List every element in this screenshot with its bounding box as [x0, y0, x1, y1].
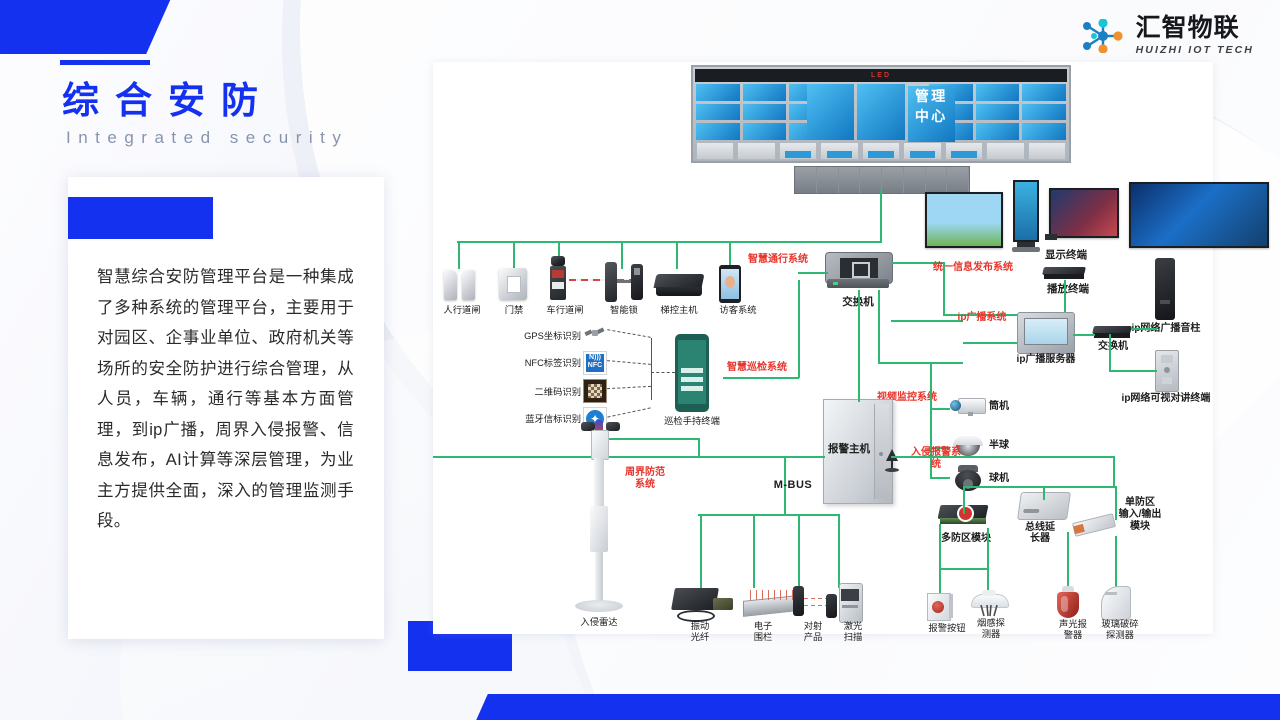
link-mbus-3 [798, 514, 800, 564]
system-label-inspection: 智慧巡检系统 [717, 362, 797, 374]
brand-name-cn: 汇智物联 [1136, 16, 1254, 41]
label-elevator-controller: 梯控主机 [651, 305, 707, 316]
device-beam-detector [793, 586, 841, 620]
device-inspection-terminal [675, 334, 709, 412]
device-sound-light-alarm [1056, 586, 1080, 620]
device-tv-monitor [1049, 188, 1119, 238]
link-per-dev-3 [798, 564, 800, 588]
link-mz-bar [939, 568, 987, 570]
label-broadcast-switch: 交换机 [1087, 342, 1139, 353]
card-accent-tag [68, 197, 213, 239]
satellite-icon [583, 324, 607, 342]
link-alarm-left [433, 456, 825, 458]
label-pedestrian-gate: 人行道闸 [434, 305, 490, 316]
device-large-led-wall [1129, 182, 1269, 248]
label-laser-scanner: 激光 扫描 [831, 621, 875, 642]
link-modules-bar [1043, 486, 1115, 488]
link-switch-left [798, 272, 828, 274]
label-ptz-camera: 球机 [989, 474, 1023, 485]
link-per-dev-1 [700, 564, 702, 588]
label-bluetooth-method: 蓝牙信标识别 [493, 414, 581, 425]
link-alarm-right [891, 456, 1113, 458]
link-mz-down2 [987, 528, 989, 568]
label-vehicle-barrier: 车行道闸 [537, 305, 593, 316]
link-insp-1 [607, 329, 651, 338]
device-smart-lock [603, 262, 645, 304]
slide-canvas: 汇智物联 HUIZHI IOT TECH 综合安防 Integrated sec… [0, 0, 1280, 720]
label-intrusion-radar: 入侵雷达 [563, 617, 635, 628]
link-insp-3 [607, 386, 651, 389]
link-alarm-right-v [1113, 456, 1115, 486]
device-door-access [499, 268, 527, 300]
system-label-publish: 统一信息发布系统 [918, 262, 1028, 274]
link-top-bus [457, 241, 882, 243]
device-glass-break-detector [1101, 586, 1131, 620]
link-mbus-1 [700, 514, 702, 564]
device-bullet-camera [950, 398, 984, 416]
device-electric-fence [743, 588, 797, 620]
link-switch-right-3 [878, 362, 963, 364]
device-vibration-fiber [673, 586, 735, 620]
label-beam-detector: 对射 产品 [791, 621, 835, 642]
link-ad-1 [939, 568, 941, 596]
label-bullet-camera: 筒机 [989, 402, 1023, 413]
link-intercom-h [1109, 370, 1157, 372]
link-insp-spine [651, 338, 652, 400]
main-screen: 管理中心 [807, 84, 955, 140]
label-smart-lock: 智能锁 [601, 305, 647, 316]
device-intrusion-radar-pole [573, 422, 625, 612]
link-mbus-4 [838, 514, 840, 564]
link-speaker [1131, 328, 1157, 330]
link-mz-down [939, 524, 941, 568]
system-label-intrusion: 入侵报警系 统 [903, 447, 969, 470]
link-perimeter-v [698, 438, 700, 458]
device-laser-scanner [837, 583, 863, 623]
link-cam-3 [930, 477, 950, 479]
label-display-terminal: 显示终端 [1031, 250, 1101, 261]
device-standing-kiosk [1013, 180, 1039, 254]
device-visitor-system [719, 265, 741, 303]
link-broadcast-in [963, 342, 1017, 344]
link-insp-vert [798, 280, 800, 378]
diagram-canvas: LED 管理中心 [433, 62, 1213, 634]
link-access-5 [676, 241, 678, 269]
link-cam-1 [930, 408, 950, 410]
label-alarm-host: 报警主机 [819, 444, 879, 455]
description-text: 智慧综合安防管理平台是一种集成了多种系统的管理平台，主要用于对园区、企事业单位、… [97, 262, 354, 537]
label-gps-method: GPS坐标识别 [505, 331, 581, 342]
device-video-wall-display [925, 192, 1003, 248]
brand-name-en: HUIZHI IOT TECH [1136, 45, 1254, 56]
top-left-accent-shape [0, 0, 174, 54]
link-intercom-v [1109, 334, 1111, 372]
molecule-network-icon [1081, 19, 1127, 53]
label-dome-camera: 半球 [989, 441, 1023, 452]
page-title: 综合安防 [62, 70, 274, 124]
link-broadcast-sw [1073, 334, 1095, 336]
system-label-ip-broadcast: ip广播系统 [939, 312, 1025, 324]
link-module-io [1115, 486, 1117, 520]
link-insp-4 [607, 407, 650, 417]
link-switch-down-2 [878, 290, 880, 364]
nfc-icon: N)))NFC [583, 351, 607, 375]
link-insp-to-switch [723, 377, 799, 379]
brand-logo: 汇智物联 HUIZHI IOT TECH [1081, 16, 1254, 56]
link-mbus-2 [753, 514, 755, 564]
siren-horn-icon [883, 447, 901, 473]
core-switch [825, 252, 891, 292]
label-sound-light-alarm: 声光报 警器 [1049, 619, 1097, 640]
bottom-accent-shape [452, 694, 1280, 720]
link-mbus-bar [698, 514, 840, 516]
device-ip-video-intercom [1155, 350, 1179, 392]
led-label: LED [695, 69, 1067, 82]
label-door-access: 门禁 [495, 305, 533, 316]
label-visitor-system: 访客系统 [712, 305, 764, 316]
label-glass-break-detector: 玻璃破碎 探测器 [1093, 619, 1147, 640]
link-access-2 [513, 241, 515, 269]
link-center-down [880, 189, 882, 241]
link-module-ext [1043, 486, 1045, 500]
device-smoke-detector [971, 590, 1007, 618]
page-subtitle: Integrated security [66, 128, 348, 148]
label-vibration-fiber: 振动 光纤 [675, 621, 725, 642]
device-elevator-controller [655, 274, 703, 300]
link-modules-left [963, 486, 1043, 488]
link-alarm-top [858, 390, 860, 402]
link-per-dev-2 [753, 564, 755, 588]
label-playback-terminal: 播放终端 [1033, 284, 1103, 295]
main-screen-text: 管理中心 [908, 86, 955, 142]
led-strip: LED [695, 69, 1067, 82]
label-qr-method: 二维码识别 [505, 387, 581, 398]
link-multizone-v [963, 486, 965, 514]
label-single-zone-io-module: 单防区 输入/输出 模块 [1109, 497, 1171, 533]
label-ip-video-intercom: ip网络可视对讲终端 [1116, 394, 1216, 405]
link-access-1 [458, 241, 460, 269]
control-center-video-wall: LED 管理中心 [691, 65, 1071, 163]
device-playback-terminal [1043, 267, 1085, 280]
device-vehicle-barrier [545, 256, 571, 302]
label-bus-extender: 总线延 长器 [1011, 523, 1069, 544]
label-ip-broadcast-server: ip广播服务器 [1007, 355, 1085, 366]
link-playback-vert [1064, 280, 1066, 315]
device-alarm-button [927, 593, 953, 619]
link-publish-vert [943, 262, 945, 314]
label-mbus: M-BUS [763, 480, 823, 491]
link-insp-2 [607, 360, 651, 365]
label-smoke-detector: 烟感探 测器 [967, 618, 1015, 639]
link-insp-out [651, 372, 675, 373]
device-ip-broadcast-server [1017, 312, 1075, 354]
qrcode-icon [583, 379, 607, 403]
system-label-access: 智慧通行系统 [733, 254, 823, 266]
label-nfc-method: NFC标签识别 [505, 358, 581, 369]
device-ip-speaker-column [1155, 258, 1175, 320]
title-underline-bar [60, 60, 150, 65]
label-multizone-module: 多防区模块 [931, 534, 1001, 545]
label-electric-fence: 电子 围栏 [741, 621, 785, 642]
label-inspection-terminal: 巡检手持终端 [661, 416, 723, 427]
device-pedestrian-gate [444, 268, 478, 302]
architecture-diagram-panel: LED 管理中心 [433, 62, 1213, 634]
